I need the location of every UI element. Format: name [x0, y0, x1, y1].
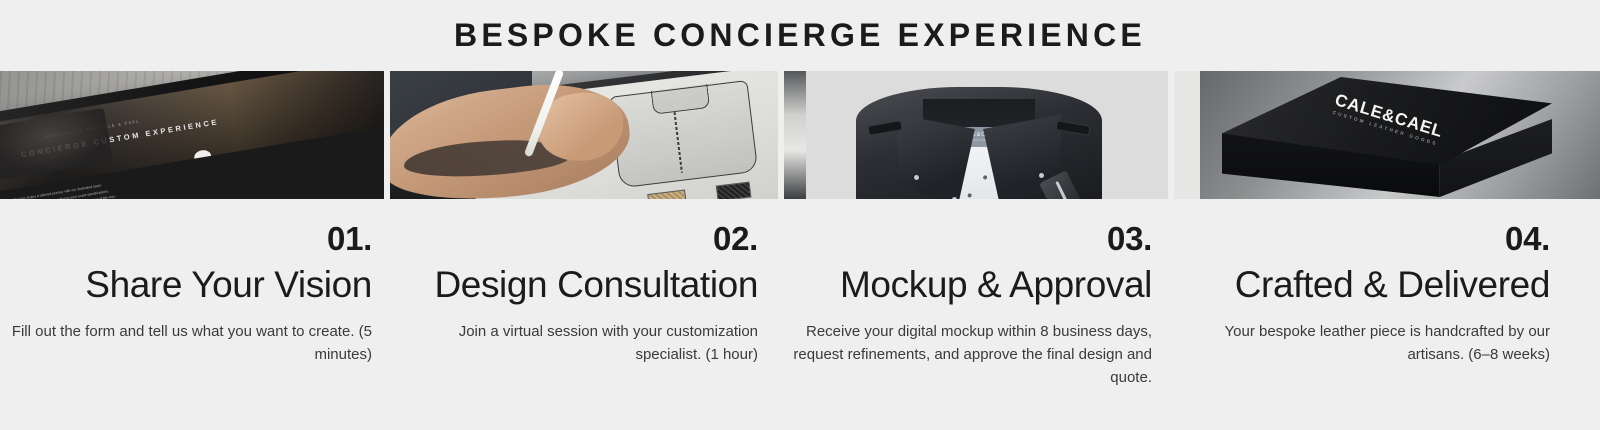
- tablet-website-photo: WELCOME TO THE CALE & CAEL CONCIERGE CUS…: [0, 71, 384, 199]
- section-title: BESPOKE CONCIERGE EXPERIENCE: [0, 0, 1600, 71]
- step-image-design-consultation: [390, 71, 778, 199]
- leather-jacket-photo: CALE&CAEL CUSTOM LEATHER GOODS: [784, 71, 1168, 199]
- process-steps: 01. Share Your Vision Fill out the form …: [0, 199, 1600, 430]
- step-number-4: 04.: [1174, 222, 1550, 255]
- backdrop-left-band: [1174, 71, 1200, 199]
- step-title-4: Crafted & Delivered: [1174, 263, 1550, 307]
- step-description-2: Join a virtual session with your customi…: [390, 320, 758, 366]
- step-image-crafted-delivered: CALE&CAEL CUSTOM LEATHER GOODS: [1174, 71, 1600, 199]
- bespoke-concierge-section: BESPOKE CONCIERGE EXPERIENCE WELCOME TO …: [0, 0, 1600, 430]
- step-number-1: 01.: [0, 222, 372, 255]
- backdrop-edge: [784, 71, 806, 199]
- step-description-1: Fill out the form and tell us what you w…: [0, 320, 372, 366]
- step-image-share-your-vision: WELCOME TO THE CALE & CAEL CONCIERGE CUS…: [0, 71, 384, 199]
- step-title-2: Design Consultation: [390, 263, 758, 307]
- step-number-2: 02.: [390, 222, 758, 255]
- step-description-4: Your bespoke leather piece is handcrafte…: [1174, 320, 1550, 366]
- step-card-2: 02. Design Consultation Join a virtual s…: [390, 199, 778, 430]
- step-title-1: Share Your Vision: [0, 263, 372, 307]
- step-number-3: 03.: [784, 222, 1152, 255]
- material-swatch-tan: [647, 189, 687, 199]
- step-description-3: Receive your digital mockup within 8 bus…: [784, 320, 1152, 389]
- material-swatch-black: [716, 181, 752, 199]
- leather-jacket: CALE&CAEL CUSTOM LEATHER GOODS: [856, 87, 1102, 199]
- process-image-band: WELCOME TO THE CALE & CAEL CONCIERGE CUS…: [0, 71, 1600, 199]
- jacket-stud: [914, 175, 919, 180]
- step-card-4: 04. Crafted & Delivered Your bespoke lea…: [1174, 199, 1600, 430]
- step-card-1: 01. Share Your Vision Fill out the form …: [0, 199, 384, 430]
- step-title-3: Mockup & Approval: [784, 263, 1152, 307]
- designer-sketching-photo: [390, 71, 778, 199]
- jacket-stud: [1039, 173, 1044, 178]
- step-image-mockup-approval: CALE&CAEL CUSTOM LEATHER GOODS: [784, 71, 1168, 199]
- step-card-3: 03. Mockup & Approval Receive your digit…: [784, 199, 1168, 430]
- jacket-sketch: [609, 80, 758, 189]
- gift-box-photo: CALE&CAEL CUSTOM LEATHER GOODS: [1174, 71, 1600, 199]
